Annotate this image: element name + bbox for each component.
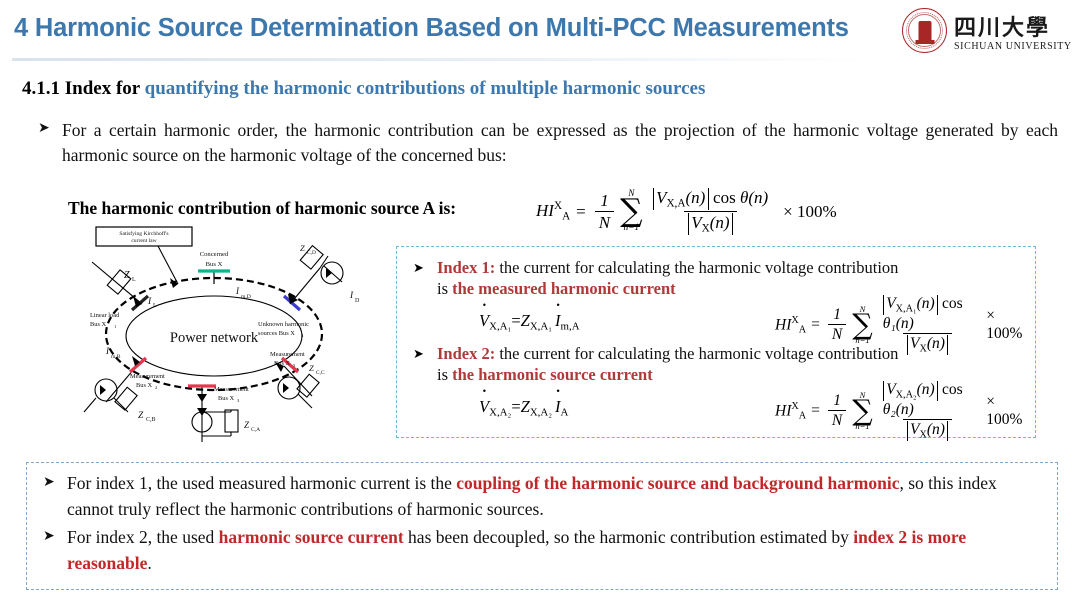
- idx2-num: VX,A₂(n) cos θ₂(n): [879, 381, 977, 419]
- idx1-num-v-sub: X,A₁: [896, 303, 917, 314]
- index-2-voltage-equation: VX,A₂=ZX,A₂IA: [479, 397, 568, 418]
- idx1-num-abs: VX,A₁(n): [883, 295, 938, 315]
- main-den-v: V: [691, 213, 701, 232]
- i-mb-label: I: [105, 346, 110, 356]
- idx1-num-v: V: [886, 295, 895, 312]
- idx2-lhs-sub: A: [799, 410, 806, 421]
- main-den-arg: (n): [710, 213, 730, 232]
- linear-load-label-sub: 1: [114, 324, 117, 329]
- main-lhs-sup: X: [554, 200, 562, 212]
- main-coefficient: 1 N: [595, 191, 614, 232]
- idx1-lhs-sym: HI: [775, 316, 791, 333]
- idx2-lhs-sym: HI: [775, 402, 791, 419]
- index-1-bullet-icon: ➤: [413, 260, 424, 276]
- idx1-eq: =: [511, 311, 520, 330]
- meas-c-label-sub: 3: [293, 363, 296, 368]
- idx2-i-sub: A: [561, 406, 569, 418]
- z-l-label: Z: [124, 270, 130, 281]
- i-l-label: I: [147, 297, 152, 307]
- concerned-bus-label-1: Concerned: [200, 251, 229, 258]
- power-network-diagram: Satisfying Kirchhoff's current law Conce…: [62, 226, 402, 448]
- idx1-v-sub: X,A₁: [489, 320, 511, 332]
- main-num-cos: cos: [713, 188, 736, 207]
- index-definition-box: ➤ Index 1: the current for calculating t…: [396, 246, 1036, 438]
- idx1-lhs-sup: X: [791, 315, 798, 326]
- i-mb-label-sub: m,B: [111, 354, 121, 360]
- slide-header: 4 Harmonic Source Determination Based on…: [0, 0, 1080, 68]
- conclusion-box: ➤ For index 1, the used measured harmoni…: [26, 462, 1058, 590]
- idx1-i: I: [555, 311, 561, 331]
- main-sigma-icon: ∑: [620, 199, 642, 224]
- meas-a-label-1: Measurement: [214, 386, 249, 393]
- index-2-label: Index 2:: [437, 344, 495, 363]
- main-coef-den: N: [595, 211, 614, 232]
- main-num-v-sub: X,A: [666, 198, 685, 210]
- conclusion-1-part1: For index 1, the used measured harmonic …: [67, 473, 456, 493]
- main-num-v: V: [656, 188, 666, 207]
- i-d-label-sub: D: [355, 298, 360, 304]
- idx2-den: VX(n): [903, 419, 953, 441]
- linear-load-label-2: Bus X: [90, 321, 107, 328]
- conclusion-1-bullet-icon: ➤: [43, 473, 55, 493]
- main-coef-num: 1: [596, 191, 613, 211]
- idx2-equals: =: [811, 402, 820, 420]
- index-2-item: ➤ Index 2: the current for calculating t…: [413, 343, 1025, 385]
- university-seal-icon: [902, 8, 947, 53]
- idx2-num-arg: (n): [917, 381, 935, 398]
- unknown-src-label-sub: 4: [301, 333, 304, 338]
- idx2-den-abs: VX(n): [907, 421, 949, 441]
- z-ca-label: Z: [244, 420, 250, 430]
- subtitle-prefix: 4.1.1 Index for: [22, 78, 140, 99]
- idx2-ratio: VX,A₂(n) cos θ₂(n) VX(n): [879, 381, 977, 441]
- main-summation: N ∑ n=1: [620, 190, 642, 234]
- meas-b-label-1: Measurement: [130, 373, 165, 380]
- page-title: 4 Harmonic Source Determination Based on…: [14, 14, 849, 43]
- power-network-label: Power network: [170, 330, 259, 346]
- idx2-eq: =: [511, 397, 520, 416]
- main-lhs-sym: HI: [536, 201, 554, 220]
- main-num-theta: θ(n): [740, 188, 768, 207]
- main-ratio-den: VX(n): [684, 211, 737, 235]
- z-cb-label: Z: [138, 411, 144, 421]
- idx2-v: V: [479, 397, 489, 417]
- branch-b-line3: [114, 398, 128, 412]
- kirchhoff-callout-line1: Satisfying Kirchhoff's: [119, 230, 168, 237]
- meas-c-label-2: Bus X: [274, 360, 291, 367]
- idx2-i: I: [555, 397, 561, 417]
- bullet-arrow-icon: ➤: [38, 119, 50, 139]
- bus-x2-marker: [130, 358, 146, 372]
- idx2-summation: N ∑ n=1: [852, 391, 872, 431]
- index-1-voltage-equation: VX,A₁=ZX,A₁Im,A: [479, 311, 580, 332]
- idx1-tail: × 100%: [986, 307, 1025, 343]
- idx1-z: Z: [521, 311, 530, 330]
- intro-bullet: ➤ For a certain harmonic order, the harm…: [38, 118, 1058, 168]
- idx1-num-theta: θ₁(n): [883, 315, 914, 332]
- idx1-lhs-sub: A: [799, 324, 806, 335]
- conclusion-2-bullet-icon: ➤: [43, 527, 55, 547]
- idx2-coef-den: N: [828, 410, 846, 429]
- idx2-den-arg: (n): [927, 421, 945, 438]
- idx1-sigma-icon: ∑: [852, 313, 872, 336]
- idx1-lhs: HIXA: [775, 315, 806, 336]
- main-num-arg: (n): [685, 188, 705, 207]
- main-lhs-sub: A: [562, 211, 570, 223]
- slide-root: 4 Harmonic Source Determination Based on…: [0, 0, 1080, 608]
- z-cb-box: [115, 387, 137, 410]
- idx1-coefficient: 1 N: [828, 306, 846, 344]
- idx1-summation: N ∑ n=1: [852, 305, 872, 345]
- z-cc-label: Z: [309, 363, 314, 373]
- sichuan-university-logo: 四川大學 SICHUAN UNIVERSITY: [902, 8, 1072, 60]
- concerned-bus-label-2: Bus X: [206, 261, 223, 268]
- meas-b-label-2: Bus X: [136, 382, 153, 389]
- index-1-item: ➤ Index 1: the current for calculating t…: [413, 257, 1025, 299]
- z-cd-label-sub: C,D: [307, 250, 316, 256]
- intro-text: For a certain harmonic order, the harmon…: [62, 118, 1058, 168]
- meas-b-label-sub: 2: [155, 385, 158, 390]
- z-l-label-sub: L: [132, 277, 136, 283]
- main-formula-label: The harmonic contribution of harmonic so…: [68, 198, 456, 219]
- unknown-src-label-1: Unknown harmonic: [258, 321, 309, 328]
- idx2-den-v-sub: X: [919, 429, 926, 440]
- index-1-label: Index 1:: [437, 258, 495, 277]
- branch-b-line2: [84, 398, 96, 412]
- z-cd-label: Z: [300, 243, 305, 253]
- idx2-z: Z: [521, 397, 530, 416]
- z-cb-label-sub: C,B: [146, 417, 156, 423]
- linear-load-label-1: Linear load: [90, 312, 120, 319]
- main-formula-lhs: HIXA: [536, 200, 570, 223]
- idx2-sigma-icon: ∑: [852, 399, 872, 422]
- subtitle-highlight: quantifying the harmonic contributions o…: [145, 78, 706, 99]
- logo-chinese-name: 四川大學: [954, 10, 1050, 42]
- i-md-label-sub: m,D: [241, 294, 251, 300]
- idx2-num-theta: θ₂(n): [883, 401, 914, 418]
- meas-c-label-1: Measurement: [270, 351, 305, 358]
- idx2-lhs: HIXA: [775, 401, 806, 422]
- kirchhoff-callout-line2: current law: [131, 238, 157, 244]
- header-divider: [12, 58, 872, 61]
- main-sigma-lower: n=1: [624, 224, 640, 233]
- meas-a-label-sub: 3: [237, 398, 240, 403]
- meas-a-label-2: Bus X: [218, 395, 235, 402]
- idx1-equals: =: [811, 316, 820, 334]
- main-equals: =: [576, 202, 586, 222]
- idx2-coefficient: 1 N: [828, 392, 846, 430]
- idx2-coef-num: 1: [829, 392, 845, 410]
- idx2-lhs-sup: X: [791, 401, 798, 412]
- conclusion-2-body: For index 2, the used harmonic source cu…: [67, 525, 1041, 576]
- idx1-v: V: [479, 311, 489, 331]
- idx2-num-v-sub: X,A₂: [896, 389, 917, 400]
- main-formula: HIXA = 1 N N ∑ n=1 VX,A(n) cos θ(n) VX(n…: [536, 188, 837, 235]
- idx1-i-sub: m,A: [561, 320, 580, 332]
- seal-gate-glyph: [918, 21, 931, 41]
- idx2-z-sub: X,A₂: [530, 406, 552, 418]
- conclusion-2-part2: has been decoupled, so the harmonic cont…: [404, 527, 854, 547]
- idx1-num-cos: cos: [942, 295, 963, 312]
- index-1-text: Index 1: the current for calculating the…: [437, 257, 907, 299]
- idx2-num-cos: cos: [942, 381, 963, 398]
- main-den-v-sub: X: [702, 223, 710, 235]
- index-2-text: Index 2: the current for calculating the…: [437, 343, 907, 385]
- idx1-coef-num: 1: [829, 306, 845, 324]
- i-md-label: I: [235, 286, 240, 296]
- conclusion-2-part3: .: [147, 553, 151, 573]
- idx1-coef-den: N: [828, 324, 846, 343]
- conclusion-2-part1: For index 2, the used: [67, 527, 219, 547]
- unknown-src-label-2: sources Bus X: [258, 330, 295, 337]
- z-cc-label-sub: C,C: [316, 370, 325, 376]
- section-subtitle: 4.1.1 Index for quantifying the harmonic…: [22, 78, 705, 100]
- conclusion-2-emphasis-1: harmonic source current: [219, 527, 404, 547]
- main-ratio: VX,A(n) cos θ(n) VX(n): [649, 188, 773, 235]
- main-num-abs: VX,A(n): [653, 188, 709, 210]
- conclusion-item-2: ➤ For index 2, the used harmonic source …: [43, 525, 1041, 576]
- main-tail: × 100%: [783, 202, 837, 222]
- z-ca-label-sub: C,A: [251, 427, 260, 433]
- idx2-sigma-lower: n=1: [855, 422, 869, 431]
- kirchhoff-leader: [158, 246, 178, 284]
- idx2-num-v: V: [886, 381, 895, 398]
- idx2-tail: × 100%: [986, 393, 1025, 429]
- i-l-label-sub: L: [153, 303, 157, 309]
- idx1-z-sub: X,A₁: [530, 320, 552, 332]
- main-ratio-num: VX,A(n) cos θ(n): [649, 188, 773, 211]
- z-ca-box: [225, 410, 238, 432]
- conclusion-1-emphasis: coupling of the harmonic source and back…: [456, 473, 899, 493]
- index-2-bullet-icon: ➤: [413, 346, 424, 362]
- index-2-hi-equation: HIXA = 1 N N ∑ n=1 VX,A₂(n) cos θ₂(n): [775, 381, 1025, 441]
- main-den-abs: VX(n): [688, 213, 733, 235]
- logo-english-name: SICHUAN UNIVERSITY: [954, 41, 1072, 52]
- idx2-v-sub: X,A₂: [489, 406, 511, 418]
- i-d-label: I: [349, 291, 354, 301]
- idx1-num: VX,A₁(n) cos θ₁(n): [879, 295, 977, 333]
- idx2-num-abs: VX,A₂(n): [883, 381, 938, 401]
- idx1-num-arg: (n): [917, 295, 935, 312]
- conclusion-item-1: ➤ For index 1, the used measured harmoni…: [43, 471, 1041, 522]
- conclusion-1-body: For index 1, the used measured harmonic …: [67, 471, 1041, 522]
